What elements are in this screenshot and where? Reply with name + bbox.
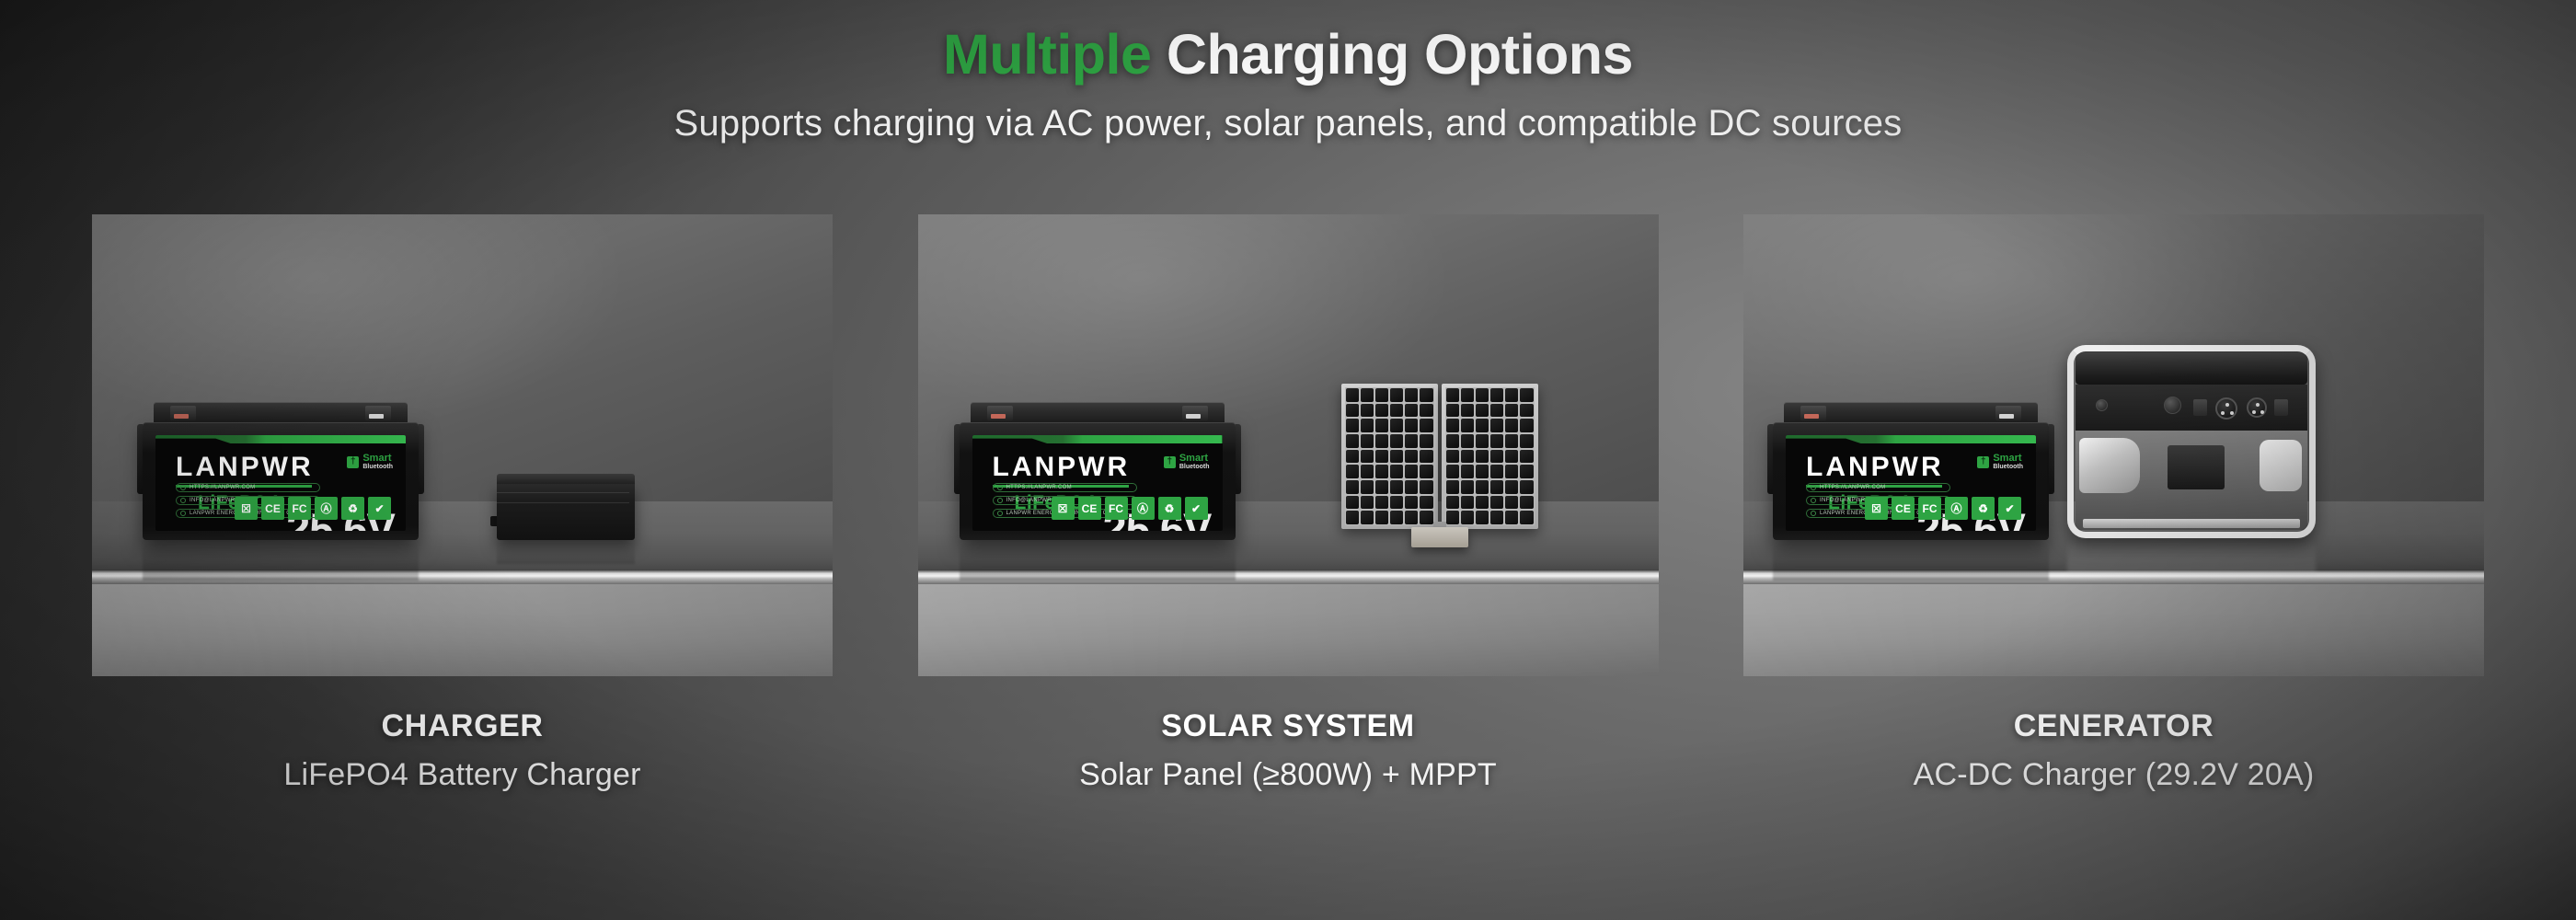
battery-body: LANPWR LiFePO4 25.6V 100AH Bluetooth † — [143, 422, 419, 540]
caption-title: SOLAR SYSTEM — [918, 708, 1659, 744]
weee-crossed-bin-icon: ☒ — [1865, 497, 1888, 520]
certification-badges: ☒ CE FC Ⓐ ♻ ✔ — [1052, 497, 1208, 520]
product-photo-generator: LANPWR LiFePO4 25.6V 100AH Bluetooth † — [1743, 214, 2484, 676]
mail-icon — [997, 498, 1003, 503]
caption-subtitle: AC-DC Charger (29.2V 20A) — [1743, 757, 2484, 793]
card-captions: CHARGER LiFePO4 Battery Charger SOLAR SY… — [92, 708, 2484, 793]
battery-terminal-positive — [1800, 406, 1826, 420]
charger-body — [497, 484, 635, 540]
lanpwr-battery: LANPWR LiFePO4 25.6V 100AH Bluetooth † — [960, 402, 1236, 540]
caption-charger: CHARGER LiFePO4 Battery Charger — [92, 708, 833, 793]
fcc-mark-icon: FC — [1105, 497, 1128, 520]
smart-bluetooth-badge: † Smart Bluetooth — [1164, 454, 1210, 470]
page-title: Multiple Charging Options — [0, 22, 2576, 86]
page-title-highlight: Multiple — [943, 23, 1151, 86]
smart-label: Smart — [1179, 454, 1210, 464]
brand-name: LANPWR — [993, 454, 1131, 481]
generator-roll-frame — [2067, 345, 2316, 538]
recycle-icon: ♻ — [341, 497, 364, 520]
smart-bluetooth-text: Smart Bluetooth — [1179, 454, 1210, 470]
ce-mark-icon: CE — [1078, 497, 1101, 520]
solar-cell-grid — [1345, 387, 1434, 525]
caption-solar-system: SOLAR SYSTEM Solar Panel (≥800W) + MPPT — [918, 708, 1659, 793]
un38-circle-icon: Ⓐ — [1132, 497, 1155, 520]
battery-body: LANPWR LiFePO4 25.6V 100AH Bluetooth † — [960, 422, 1236, 540]
label-green-bar — [972, 435, 1223, 443]
building-icon — [1811, 511, 1816, 516]
solar-cell-grid — [1445, 387, 1535, 525]
option-card-generator[interactable]: LANPWR LiFePO4 25.6V 100AH Bluetooth † — [1743, 214, 2484, 676]
portable-generator — [2067, 345, 2316, 538]
battery-body: LANPWR LiFePO4 25.6V 100AH Bluetooth † — [1773, 422, 2049, 540]
page-subtitle: Supports charging via AC power, solar pa… — [0, 103, 2576, 144]
solar-panel-base — [1411, 527, 1468, 547]
contact-website: HTTPS://LANPWR.COM — [176, 483, 320, 492]
battery-label: LANPWR LiFePO4 25.6V 100AH Bluetooth † — [1786, 435, 2036, 531]
smart-label: Smart — [1993, 454, 2023, 464]
brand-name: LANPWR — [1806, 454, 1944, 481]
fcc-mark-icon: FC — [1918, 497, 1941, 520]
smart-bluetooth-badge: † Smart Bluetooth — [1977, 454, 2023, 470]
battery-terminal-positive — [170, 406, 196, 420]
battery-label: LANPWR LiFePO4 25.6V 100AH Bluetooth † — [972, 435, 1223, 531]
bluetooth-sub-label: Bluetooth — [362, 464, 393, 470]
mail-icon — [1811, 498, 1816, 503]
globe-icon — [180, 485, 186, 490]
check-mark-icon: ✔ — [1185, 497, 1208, 520]
lanpwr-battery: LANPWR LiFePO4 25.6V 100AH Bluetooth † — [1773, 402, 2049, 540]
charger-reflection — [497, 540, 635, 564]
bluetooth-sub-label: Bluetooth — [1993, 464, 2023, 470]
ce-mark-icon: CE — [261, 497, 284, 520]
weee-crossed-bin-icon: ☒ — [1052, 497, 1075, 520]
smart-bluetooth-text: Smart Bluetooth — [1993, 454, 2023, 470]
bluetooth-icon: † — [347, 456, 359, 468]
certification-badges: ☒ CE FC Ⓐ ♻ ✔ — [235, 497, 391, 520]
check-mark-icon: ✔ — [1998, 497, 2021, 520]
smart-label: Smart — [362, 454, 393, 464]
caption-title: CHARGER — [92, 708, 833, 744]
studio-floor — [1743, 584, 2484, 676]
brand-name: LANPWR — [176, 454, 314, 481]
caption-title: CENERATOR — [1743, 708, 2484, 744]
bluetooth-icon: † — [1977, 456, 1989, 468]
building-icon — [180, 511, 186, 516]
battery-reflection — [143, 540, 419, 581]
fcc-mark-icon: FC — [288, 497, 311, 520]
label-green-bar — [1786, 435, 2036, 443]
battery-terminal-negative — [1995, 406, 2021, 420]
un38-circle-icon: Ⓐ — [315, 497, 338, 520]
battery-terminal-positive — [987, 406, 1013, 420]
smart-bluetooth-text: Smart Bluetooth — [362, 454, 393, 470]
caption-subtitle: Solar Panel (≥800W) + MPPT — [918, 757, 1659, 793]
solar-panel-wing-left — [1341, 384, 1438, 529]
globe-icon — [997, 485, 1003, 490]
weee-crossed-bin-icon: ☒ — [235, 497, 258, 520]
lanpwr-battery: LANPWR LiFePO4 25.6V 100AH Bluetooth † — [143, 402, 419, 540]
page-title-rest: Charging Options — [1167, 23, 1633, 86]
recycle-icon: ♻ — [1972, 497, 1995, 520]
contact-website: HTTPS://LANPWR.COM — [993, 483, 1137, 492]
studio-floor — [92, 584, 833, 676]
mail-icon — [180, 498, 186, 503]
option-card-solar-system[interactable]: LANPWR LiFePO4 25.6V 100AH Bluetooth † — [918, 214, 1659, 676]
caption-subtitle: LiFePO4 Battery Charger — [92, 757, 833, 793]
battery-label: LANPWR LiFePO4 25.6V 100AH Bluetooth † — [155, 435, 406, 531]
battery-terminal-negative — [365, 406, 391, 420]
option-card-charger[interactable]: LANPWR LiFePO4 25.6V 100AH Bluetooth † — [92, 214, 833, 676]
caption-generator: CENERATOR AC-DC Charger (29.2V 20A) — [1743, 708, 2484, 793]
contact-website: HTTPS://LANPWR.COM — [1806, 483, 1950, 492]
generator-reflection — [2067, 538, 2316, 575]
certification-badges: ☒ CE FC Ⓐ ♻ ✔ — [1865, 497, 2021, 520]
product-photo-solar-system: LANPWR LiFePO4 25.6V 100AH Bluetooth † — [918, 214, 1659, 676]
check-mark-icon: ✔ — [368, 497, 391, 520]
battery-reflection — [1773, 540, 2049, 581]
un38-circle-icon: Ⓐ — [1945, 497, 1968, 520]
battery-terminal-negative — [1182, 406, 1208, 420]
charging-options-gallery: LANPWR LiFePO4 25.6V 100AH Bluetooth † — [92, 214, 2484, 676]
bluetooth-sub-label: Bluetooth — [1179, 464, 1210, 470]
smart-bluetooth-badge: † Smart Bluetooth — [347, 454, 393, 470]
ce-mark-icon: CE — [1892, 497, 1915, 520]
label-green-bar — [155, 435, 406, 443]
solar-panel — [1341, 384, 1538, 529]
bluetooth-icon: † — [1164, 456, 1176, 468]
product-photo-charger: LANPWR LiFePO4 25.6V 100AH Bluetooth † — [92, 214, 833, 676]
solar-panel-wing-right — [1442, 384, 1538, 529]
recycle-icon: ♻ — [1158, 497, 1181, 520]
studio-floor — [918, 584, 1659, 676]
charger-brick — [497, 474, 635, 540]
battery-reflection — [960, 540, 1236, 581]
globe-icon — [1811, 485, 1816, 490]
building-icon — [997, 511, 1003, 516]
